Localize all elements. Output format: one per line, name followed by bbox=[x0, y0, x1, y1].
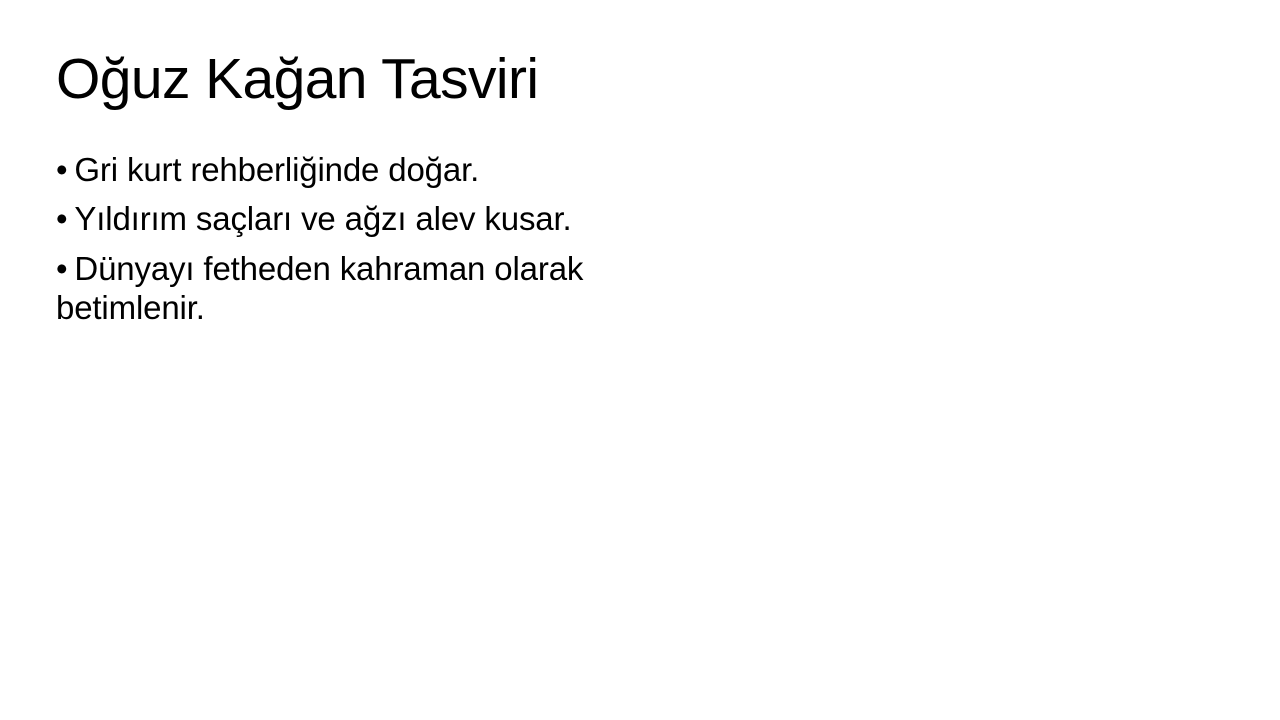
list-item-label: Dünyayı fetheden kahraman olarak betimle… bbox=[56, 250, 583, 326]
bullet-point-icon: • bbox=[56, 252, 67, 285]
list-item-label: Yıldırım saçları ve ağzı alev kusar. bbox=[74, 200, 571, 237]
bullet-point-icon: • bbox=[56, 153, 67, 186]
list-item: •Yıldırım saçları ve ağzı alev kusar. bbox=[56, 199, 676, 238]
slide-canvas: Oğuz Kağan Tasviri •Gri kurt rehberliğin… bbox=[0, 0, 1280, 720]
list-item: •Dünyayı fetheden kahraman olarak betiml… bbox=[56, 249, 676, 328]
page-title: Oğuz Kağan Tasviri bbox=[56, 46, 1196, 113]
bullet-list: •Gri kurt rehberliğinde doğar. •Yıldırım… bbox=[56, 150, 676, 327]
bullet-point-icon: • bbox=[56, 202, 67, 235]
list-item-label: Gri kurt rehberliğinde doğar. bbox=[74, 151, 479, 188]
list-item: •Gri kurt rehberliğinde doğar. bbox=[56, 150, 676, 189]
slide-body: •Gri kurt rehberliğinde doğar. •Yıldırım… bbox=[56, 150, 676, 327]
